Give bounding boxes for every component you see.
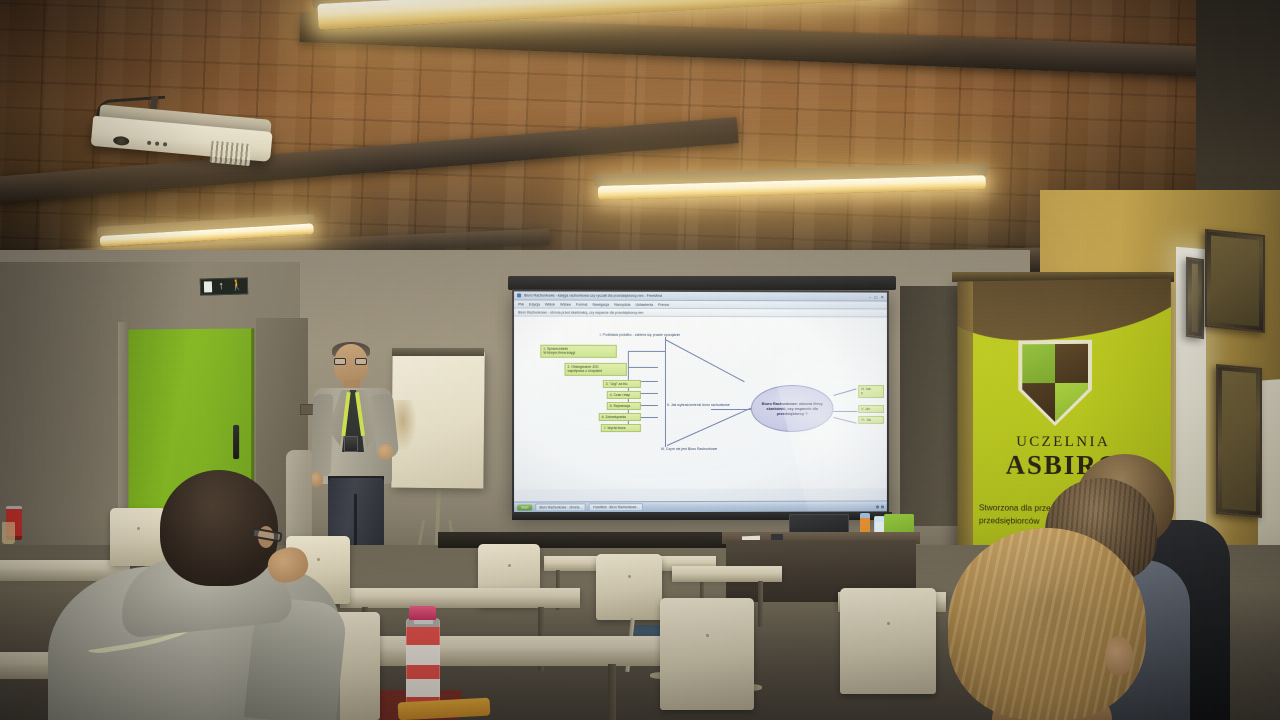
drinking-glass (2, 522, 15, 544)
foreground-bottle (406, 618, 440, 710)
mindmap-connector (667, 408, 751, 446)
screen-mount-bar (508, 276, 896, 290)
mindmap-branch-3[interactable]: III. Czym nie jest Biuro Rachunkowe (661, 447, 717, 451)
desk-edge (672, 577, 782, 582)
exit-door-icon (204, 281, 212, 292)
system-tray[interactable] (876, 505, 884, 508)
presenter-hand (378, 444, 393, 460)
mindmap-connector (833, 388, 856, 396)
mindmap-branch-1[interactable]: I. Podstawa podatku - zabiera się prawie… (600, 333, 680, 337)
desk-leg (758, 581, 763, 627)
attendee-head-blond (948, 528, 1146, 720)
desk-edge (340, 601, 580, 608)
attendee-ear (1105, 636, 1133, 676)
menu-item-narzedzia[interactable]: Narzędzia (614, 302, 630, 306)
banner-edge (957, 281, 973, 564)
menu-item-ustawienia[interactable]: Ustawienia (635, 302, 653, 306)
bottle-cap (409, 606, 436, 620)
windows-taskbar[interactable]: Start Biuro Rachunkowe - obrona... FreeM… (514, 500, 887, 512)
classroom-scene: ↑ 🚶 (0, 0, 1280, 720)
tray-icon[interactable] (876, 505, 879, 508)
app-icon (517, 293, 521, 297)
menu-item-nawigacja[interactable]: Nawigacja (592, 302, 609, 306)
mindmap-subnode[interactable]: 7. Wyniki biura (601, 424, 641, 432)
chair[interactable] (110, 508, 166, 566)
projector-lens (113, 136, 130, 146)
projector-vent (210, 141, 252, 167)
menu-item-format[interactable]: Format (576, 302, 587, 306)
minimize-icon[interactable]: – (869, 294, 871, 299)
chair[interactable] (596, 554, 662, 620)
exit-arrow-icon: ↑ (218, 281, 224, 292)
close-icon[interactable]: ✕ (881, 294, 884, 299)
banner-institution-line1: UCZELNIA (957, 434, 1171, 451)
emergency-exit-sign: ↑ 🚶 (200, 277, 248, 295)
wall-dark-strip (900, 286, 958, 526)
banner-swoop (957, 278, 1171, 341)
mindmap-right-node[interactable]: VI. Jak (858, 416, 884, 424)
door-handle-icon[interactable] (233, 425, 239, 459)
mindmap-right-node[interactable]: V. Jak (858, 405, 884, 413)
menu-item-plik[interactable]: Plik (518, 302, 524, 306)
shield-logo-icon (1018, 340, 1092, 426)
mindmap-right-node[interactable]: IV. Jak p (858, 385, 884, 398)
glasses-icon (334, 358, 368, 365)
taskbar-item[interactable]: Biuro Rachunkowe - obrona... (535, 503, 586, 511)
mindmap-connector (833, 417, 856, 424)
projection-screen: Biuro Rachunkowe - księga rachunkowa czy… (512, 289, 889, 514)
mindmap-central-node[interactable]: Biuro Rachunkowe: obrona firmy skarbówki… (751, 385, 834, 432)
mindmap-connector (665, 337, 666, 447)
mindmap-connector (628, 367, 658, 368)
mindmap-connector (628, 351, 666, 352)
chair[interactable] (840, 588, 936, 694)
menu-item-widok[interactable]: Widok (545, 302, 555, 306)
mindmap-subnode[interactable]: 6. Zobowiązania (599, 413, 641, 421)
presenter-arm (311, 394, 334, 477)
desk-leg (608, 664, 616, 720)
chair[interactable] (660, 598, 754, 710)
desk (340, 588, 580, 602)
menu-item-pomoc[interactable]: Pomoc (658, 302, 669, 306)
wall-frame (1216, 364, 1262, 518)
menu-item-wstaw[interactable]: Wstaw (560, 302, 571, 306)
mindmap-branch-2[interactable]: II. Jak wybrać/zmienić biuro rachunkowe (667, 403, 730, 407)
screen-surface: Biuro Rachunkowe - księga rachunkowa czy… (514, 291, 887, 512)
mindmap-connector (665, 339, 745, 382)
mindmap-canvas[interactable]: I. Podstawa podatku - zabiera się prawie… (514, 317, 887, 490)
mindmap-connector (833, 411, 857, 412)
tray-icon[interactable] (881, 505, 884, 508)
start-button[interactable]: Start (517, 505, 532, 511)
menu-item-edycja[interactable]: Edycja (529, 302, 540, 306)
mindmap-subnode[interactable]: 1. Sprawozdanie W którym firma księgi (540, 345, 617, 358)
mindmap-subnode[interactable]: 5. Rejestracja (607, 402, 641, 410)
wall-frame (1205, 229, 1265, 333)
document-path: Biuro Rachunkowe - obrona przed skarbówk… (518, 310, 643, 314)
wall-frame (1186, 257, 1204, 340)
mindmap-subnode[interactable]: 3. "Ulgi" za biu (603, 380, 641, 388)
mindmap-subnode[interactable]: 4. Czas i etap (607, 391, 641, 399)
taskbar-item[interactable]: FreeMind - Biuro Rachunkowe... (589, 503, 643, 511)
maximize-icon[interactable]: ▭ (874, 294, 878, 299)
mindmap-subnode[interactable]: 2. Obsługiwanie JDG współpraca z Urzędam… (565, 363, 627, 376)
id-badge (344, 436, 358, 452)
presenter (300, 344, 420, 556)
window-title: Biuro Rachunkowe - księga rachunkowa czy… (524, 293, 662, 297)
window-controls[interactable]: – ▭ ✕ (869, 294, 884, 299)
running-man-icon: 🚶 (230, 280, 244, 291)
